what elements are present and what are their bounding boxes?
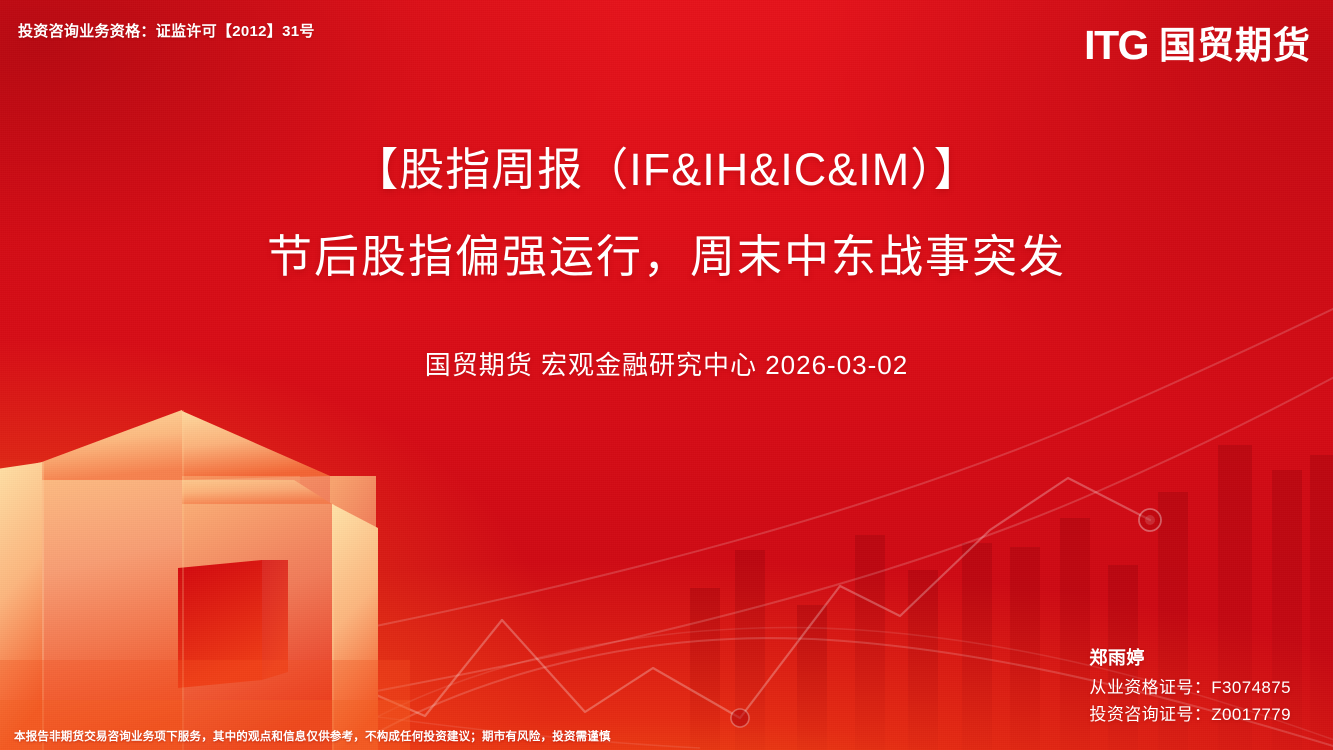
report-byline: 国贸期货 宏观金融研究中心 2026-03-02 (0, 345, 1333, 382)
cover-center-block: 【股指周报（IF&IH&IC&IM）】 节后股指偏强运行，周末中东战事突发 国贸… (0, 140, 1333, 382)
logo-latin-text: ITG (1084, 25, 1148, 66)
author-block: 郑雨婷 从业资格证号：F3074875 投资咨询证号：Z0017779 (1089, 644, 1291, 728)
report-title-line-1: 【股指周报（IF&IH&IC&IM）】 (0, 140, 1333, 199)
author-name: 郑雨婷 (1089, 644, 1291, 670)
footer-disclaimer: 本报告非期货交易咨询业务项下服务，其中的观点和信息仅供参考，不构成任何投资建议；… (14, 728, 611, 744)
author-consulting-number: 投资咨询证号：Z0017779 (1089, 702, 1291, 728)
company-logo: ITG 国贸期货 (1084, 25, 1311, 66)
author-qualification-number: 从业资格证号：F3074875 (1089, 675, 1291, 701)
slide-header: 投资咨询业务资格：证监许可【2012】31号 ITG 国贸期货 (0, 0, 1333, 92)
license-text: 投资咨询业务资格：证监许可【2012】31号 (18, 20, 315, 41)
report-title-line-2: 节后股指偏强运行，周末中东战事突发 (0, 227, 1333, 286)
logo-chinese-text: 国贸期货 (1159, 27, 1311, 64)
cover-slide: 投资咨询业务资格：证监许可【2012】31号 ITG 国贸期货 【股指周报（IF… (0, 0, 1333, 750)
